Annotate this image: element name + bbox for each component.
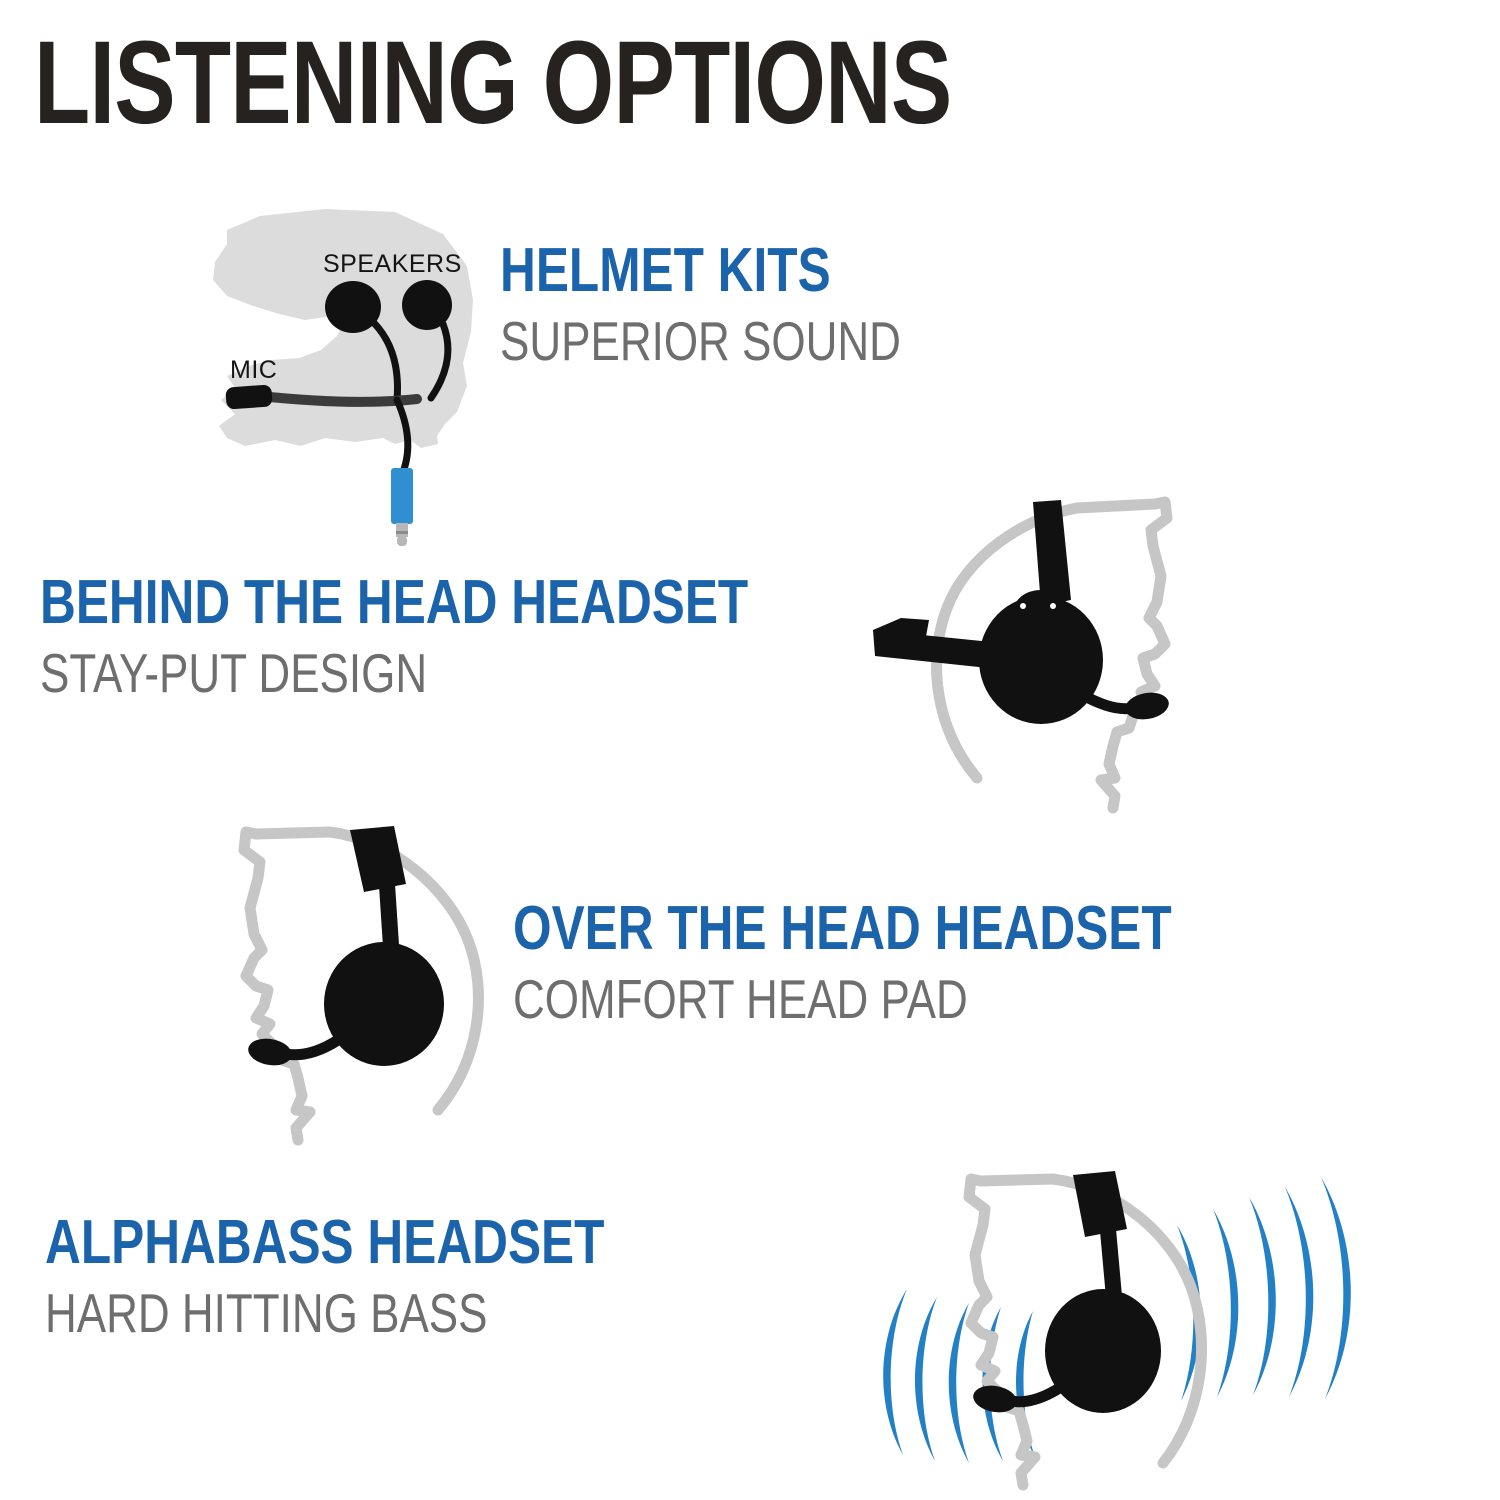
jack-plug-tip — [397, 536, 407, 546]
soundwave-right-5 — [1321, 1177, 1351, 1399]
comfort-head-pad — [1073, 1171, 1127, 1237]
mic-capsule — [225, 384, 272, 409]
over-the-head-subheading: COMFORT HEAD PAD — [513, 972, 1172, 1027]
page-title: LISTENING OPTIONS — [34, 24, 951, 142]
soundwave-right-3 — [1249, 1197, 1276, 1395]
comfort-head-pad — [350, 826, 406, 892]
soundwave-left-1 — [883, 1289, 907, 1455]
over-the-head-heading: OVER THE HEAD HEADSET — [513, 898, 1172, 960]
soundwave-left-3 — [949, 1303, 969, 1463]
behind-the-head-heading: BEHIND THE HEAD HEADSET — [40, 572, 748, 634]
speakers-label: SPEAKERS — [323, 250, 462, 278]
alphabass-heading: ALPHABASS HEADSET — [45, 1212, 604, 1274]
behind-the-head-text-block: BEHIND THE HEAD HEADSET STAY-PUT DESIGN — [40, 572, 925, 701]
mic-boom — [260, 396, 417, 402]
behind-the-head-subheading: STAY-PUT DESIGN — [40, 646, 748, 701]
alphabass-headset-illustration — [785, 1125, 1355, 1500]
soundwave-left-2 — [915, 1297, 937, 1461]
behind-the-head-headset-illustration — [865, 478, 1235, 823]
over-the-head-text-block: OVER THE HEAD HEADSET COMFORT HEAD PAD — [513, 898, 1336, 1027]
helmet-kits-subheading: SUPERIOR SOUND — [500, 314, 901, 369]
boom-mic-arm — [1081, 694, 1133, 709]
soundwave-right-4 — [1285, 1187, 1313, 1397]
headset-ear-cup — [324, 942, 444, 1066]
over-the-head-headset-illustration — [198, 808, 548, 1148]
jack-plug-body — [391, 468, 413, 524]
headset-ear-cup — [1045, 1289, 1161, 1413]
ear-cup-pivot-left — [1020, 603, 1026, 609]
alphabass-subheading: HARD HITTING BASS — [45, 1286, 604, 1341]
helmet-kits-heading: HELMET KITS — [500, 240, 901, 302]
alphabass-text-block: ALPHABASS HEADSET HARD HITTING BASS — [45, 1212, 744, 1341]
headset-ear-cup-yoke — [1013, 590, 1069, 634]
mic-label: MIC — [230, 356, 277, 384]
jack-plug-ring-1 — [396, 531, 408, 534]
helmet-kits-text-block: HELMET KITS SUPERIOR SOUND — [500, 240, 1001, 369]
ear-cup-pivot-right — [1050, 603, 1056, 609]
helmet-kit-illustration: SPEAKERS MIC — [205, 200, 535, 570]
soundwaves-left — [883, 1289, 1035, 1463]
boom-mic-arm — [286, 1040, 338, 1055]
jack-plug-sleeve — [396, 523, 408, 537]
soundwave-right-2 — [1213, 1209, 1238, 1397]
